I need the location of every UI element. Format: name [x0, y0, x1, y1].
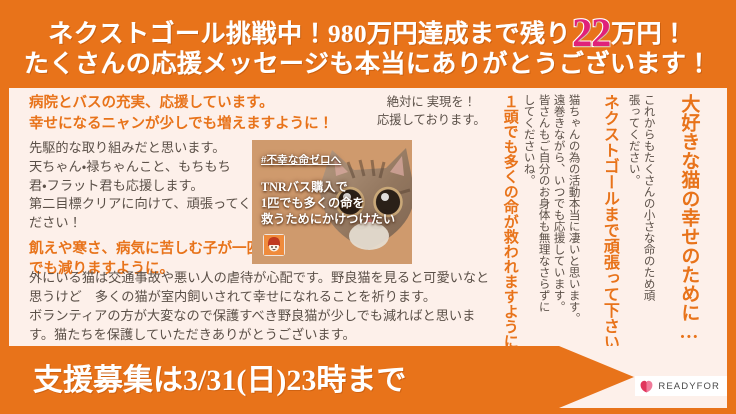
photo-caption-line-3: 救うためにかけつけたい: [261, 211, 403, 227]
remaining-amount-highlight: 22: [572, 17, 610, 49]
frame-edge-right: [727, 0, 736, 414]
main-content-card: 病院とバスの充実、応援しています。 幸せになるニャンが少しでも増えますように！ …: [9, 88, 727, 346]
project-owner-avatar: [263, 234, 285, 256]
mid-note-line-2: 応援しております。: [377, 111, 486, 129]
wide-line-4: す。猫たちを保護していただきありがとうございます。: [29, 325, 499, 344]
vertical-message-3: 皆さんもご自分のお身体も無理なさらずに: [536, 94, 550, 332]
vertical-message-2: してくださいね。: [521, 94, 535, 332]
supporter-message-left: 病院とバスの充実、応援しています。 幸せになるニャンが少しでも増えますように！ …: [29, 93, 281, 280]
left-para1-line-2: 天ちゃん・禄ちゃんこと、もちもち: [29, 158, 281, 177]
vertical-message-4: 遠巻きながら、いつでも応援しています。: [551, 94, 565, 332]
photo-overlay-text: #不幸な命ゼロへ TNRバス購入で 1匹でも多くの命を 救うためにかけつけたい: [261, 152, 403, 228]
left-para1-line-5: ださい！: [29, 214, 281, 233]
readyfor-wordmark: READYFOR: [658, 381, 720, 392]
photo-caption: TNRバス購入で 1匹でも多くの命を 救うためにかけつけたい: [261, 179, 403, 228]
campaign-poster: ネクストゴール挑戦中！980万円達成まで残り22万円！ たくさんの応援メッセージ…: [0, 0, 736, 414]
left-para1-line-3: 君・フラット君も応援します。: [29, 177, 281, 196]
footer-bottom-strip: [0, 408, 736, 414]
photo-caption-line-1: TNRバス購入で: [261, 179, 403, 195]
frame-edge-left: [0, 0, 9, 414]
header-headline-primary: ネクストゴール挑戦中！980万円達成まで残り22万円！: [48, 13, 687, 49]
left-heading2-line-1: 飢えや寒さ、病気に苦しむ子が一匹: [29, 239, 281, 260]
left-heading-line-1: 病院とバスの充実、応援しています。: [29, 93, 281, 114]
project-photo: #不幸な命ゼロへ TNRバス購入で 1匹でも多くの命を 救うためにかけつけたい: [252, 140, 412, 264]
photo-hashtag: #不幸な命ゼロへ: [261, 152, 403, 167]
readyfor-logo[interactable]: READYFOR: [635, 376, 727, 396]
left-paragraph-1: 先駆的な取り組みだと思います。 天ちゃん・禄ちゃんこと、もちもち 君・フラット君…: [29, 139, 281, 233]
vertical-message-1: １頭でも多くの命が救われますように: [500, 94, 518, 340]
vertical-message-7: ネクストゴールまで頑張って下さい！: [599, 94, 618, 344]
vertical-message-9: これからもたくさんの小さな命のため頑: [641, 94, 655, 332]
vertical-message-11: 大好きな猫の幸せのために…: [677, 94, 699, 346]
deadline-text: 支援募集は3/31(日)23時まで: [33, 355, 406, 399]
header-goal-text-before: ネクストゴール挑戦中！980万円達成まで残り: [48, 21, 571, 49]
wide-line-2: 思うけど 多くの猫が室内飼いされて幸せになれることを祈ります。: [29, 287, 499, 306]
deadline-banner: 支援募集は3/31(日)23時まで: [9, 346, 634, 408]
left-heading-line-2: 幸せになるニャンが少しでも増えますように！: [29, 114, 281, 135]
left-para1-line-4: 第二目標クリアに向けて、頑張ってく: [29, 195, 281, 214]
wide-line-1: 外にいる猫は交通事故や悪い人の虐待が心配です。野良猫を見ると可愛いなと: [29, 268, 499, 287]
avatar-face-icon: [264, 235, 284, 255]
supporter-message-wide: 外にいる猫は交通事故や悪い人の虐待が心配です。野良猫を見ると可愛いなと 思うけど…: [29, 268, 499, 345]
photo-caption-line-2: 1匹でも多くの命を: [261, 195, 403, 211]
vertical-message-8: 張ってください。: [626, 94, 640, 332]
left-para1-line-1: 先駆的な取り組みだと思います。: [29, 139, 281, 158]
readyfor-mark-icon: [640, 380, 653, 393]
header-headline-secondary: たくさんの応援メッセージも本当にありがとうございます！: [24, 51, 712, 79]
supporter-message-mid: 絶対に 実現を！ 応援しております。: [377, 93, 486, 130]
footer-zone: 支援募集は3/31(日)23時まで READYFOR: [0, 346, 736, 414]
mid-note-line-1: 絶対に 実現を！: [377, 93, 486, 111]
vertical-message-5: 猫ちゃんの為の活動本当に凄いと思います。: [566, 94, 580, 332]
wide-line-3: ボランティアの方が大変なので保護すべき野良猫が少しでも減ればと思いま: [29, 306, 499, 325]
header-banner: ネクストゴール挑戦中！980万円達成まで残り22万円！ たくさんの応援メッセージ…: [0, 0, 736, 88]
header-goal-text-after: 万円！: [611, 21, 688, 49]
